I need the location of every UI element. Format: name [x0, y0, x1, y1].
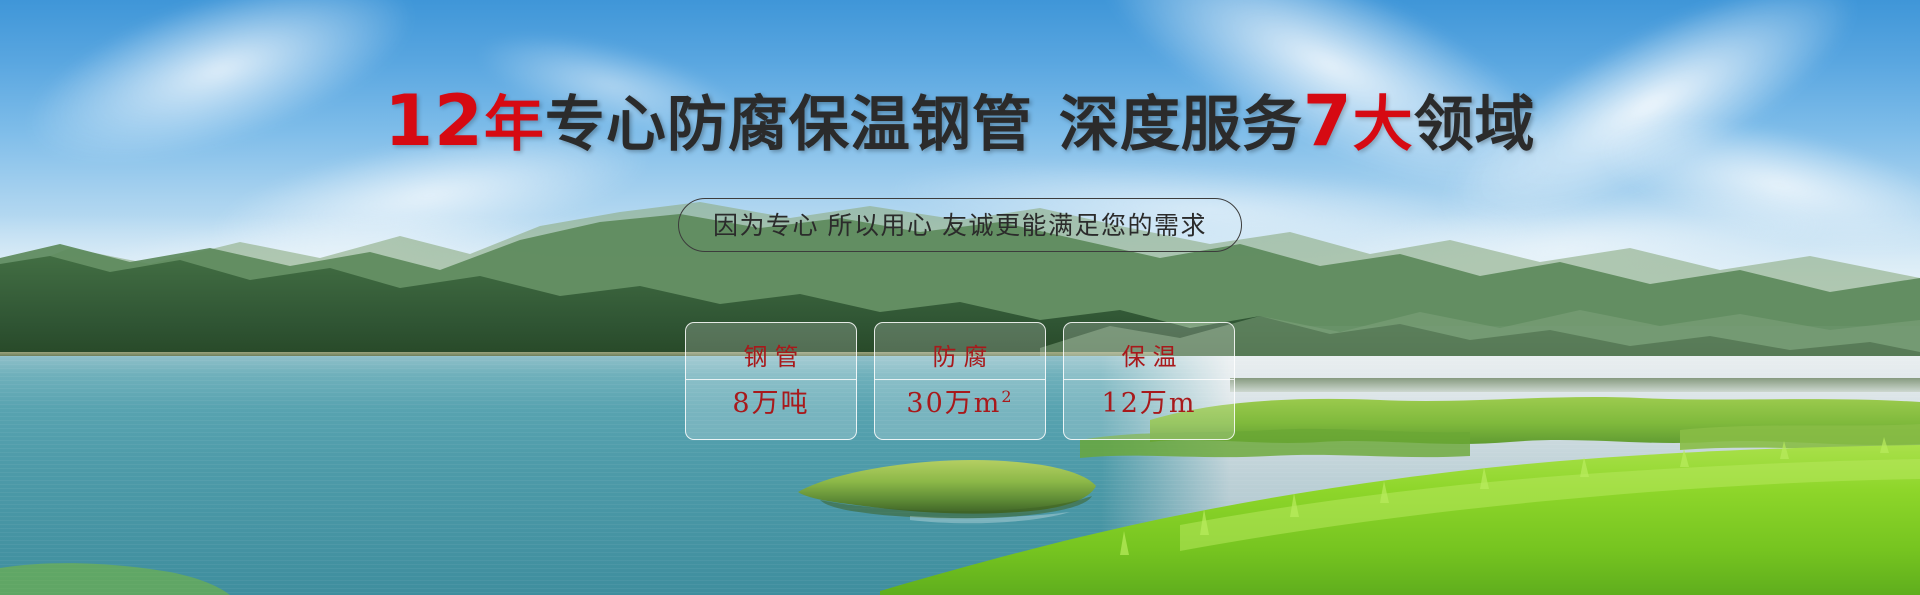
headline-fields-number: 7	[1303, 80, 1353, 162]
stat-card-label: 钢管	[737, 344, 806, 373]
stat-card-value: 8万吨	[732, 388, 809, 419]
page-title: 12年专心防腐保温钢管深度服务7大领域	[0, 86, 1920, 156]
headline-fields-measure: 大	[1353, 91, 1414, 158]
headline-main-phrase: 专心防腐保温钢管	[545, 91, 1033, 158]
headline-fields-word: 领域	[1414, 91, 1536, 158]
stat-card-label: 保温	[1115, 344, 1184, 373]
stat-card-divider	[875, 379, 1045, 380]
headline-service-phrase: 深度服务	[1059, 91, 1303, 158]
headline-years-number: 12	[384, 80, 483, 162]
stat-card-divider	[686, 379, 856, 380]
far-shore-strip	[1230, 378, 1920, 392]
subtitle-pill: 因为专心 所以用心 友诚更能满足您的需求	[678, 198, 1242, 252]
stat-value-superscript: 2	[1001, 387, 1013, 406]
stat-card-anticorrosion[interactable]: 防腐 30万m2	[874, 322, 1046, 440]
hero-banner: 12年专心防腐保温钢管深度服务7大领域 因为专心 所以用心 友诚更能满足您的需求…	[0, 0, 1920, 595]
stat-card-value: 30万m2	[906, 388, 1013, 419]
stat-value-text: 12万m	[1102, 388, 1197, 419]
stat-value-text: 30万m	[906, 388, 1001, 419]
stat-value-text: 8万吨	[732, 388, 809, 419]
headline-years-unit: 年	[484, 91, 545, 158]
stat-card-label: 防腐	[926, 344, 995, 373]
stat-card-insulation[interactable]: 保温 12万m	[1063, 322, 1235, 440]
sky-background	[0, 0, 1920, 340]
stat-card-group: 钢管 8万吨 防腐 30万m2 保温 12万m	[685, 322, 1235, 440]
stat-card-divider	[1064, 379, 1234, 380]
stat-card-value: 12万m	[1102, 388, 1197, 419]
subtitle-container: 因为专心 所以用心 友诚更能满足您的需求	[0, 198, 1920, 252]
stat-card-steel-pipe[interactable]: 钢管 8万吨	[685, 322, 857, 440]
